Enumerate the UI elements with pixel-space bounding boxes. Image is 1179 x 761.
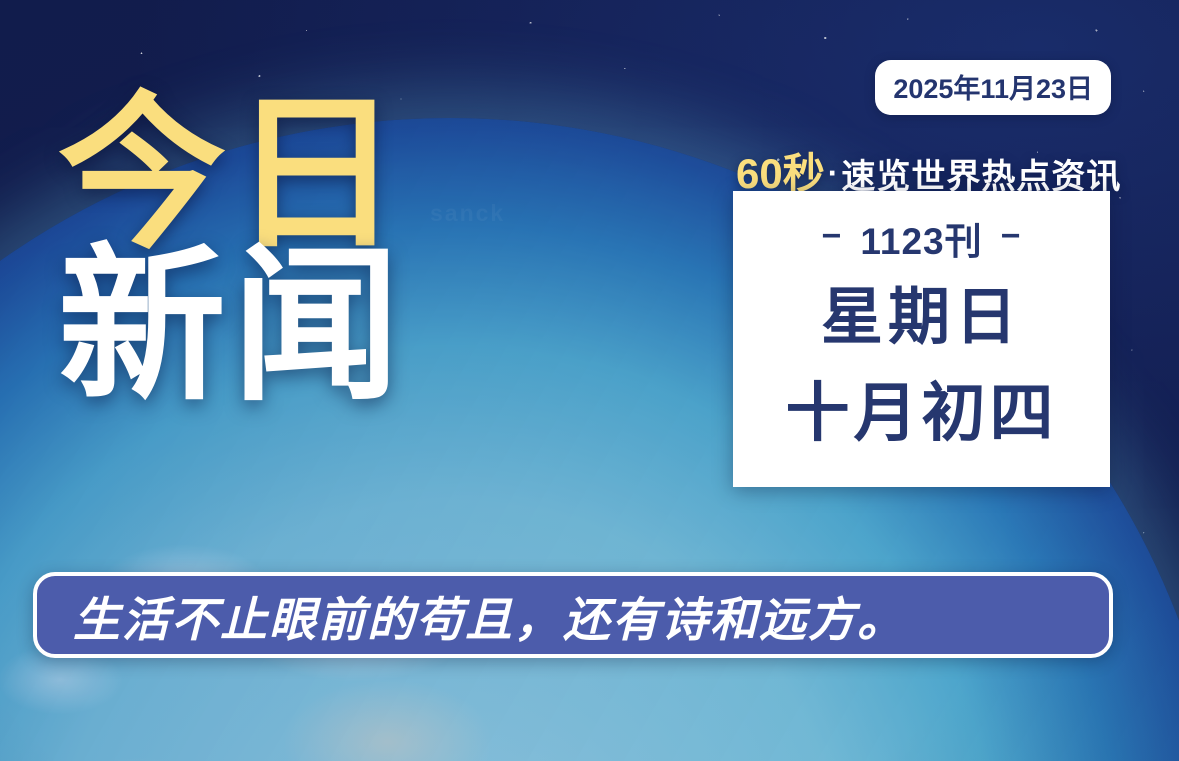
weekday-label: 星期日 (821, 287, 1022, 349)
quote-text: 生活不止眼前的苟且，还有诗和远方。 (37, 581, 906, 650)
news-poster: sanck 今日 新闻 2025年11月23日 60秒·速览世界热点资讯 − 1… (0, 0, 1179, 761)
issue-dash-right: − (1001, 217, 1022, 256)
tagline-separator: · (828, 155, 839, 191)
lunar-date-label: 十月初四 (786, 381, 1058, 445)
tagline-highlight: 60秒 (736, 150, 825, 197)
date-badge: 2025年11月23日 (875, 60, 1111, 115)
issue-number: 1123刊 (860, 211, 982, 265)
logo-line-xinwen: 新闻 (58, 248, 458, 406)
info-card: − 1123刊 − 星期日 十月初四 (733, 191, 1110, 487)
issue-dash-left: − (822, 217, 843, 256)
logo-line-jinri: 今日 (58, 96, 458, 254)
issue-row: − 1123刊 − (822, 211, 1022, 265)
quote-banner: 生活不止眼前的苟且，还有诗和远方。 (33, 572, 1113, 658)
brand-logo: 今日 新闻 (58, 96, 458, 406)
